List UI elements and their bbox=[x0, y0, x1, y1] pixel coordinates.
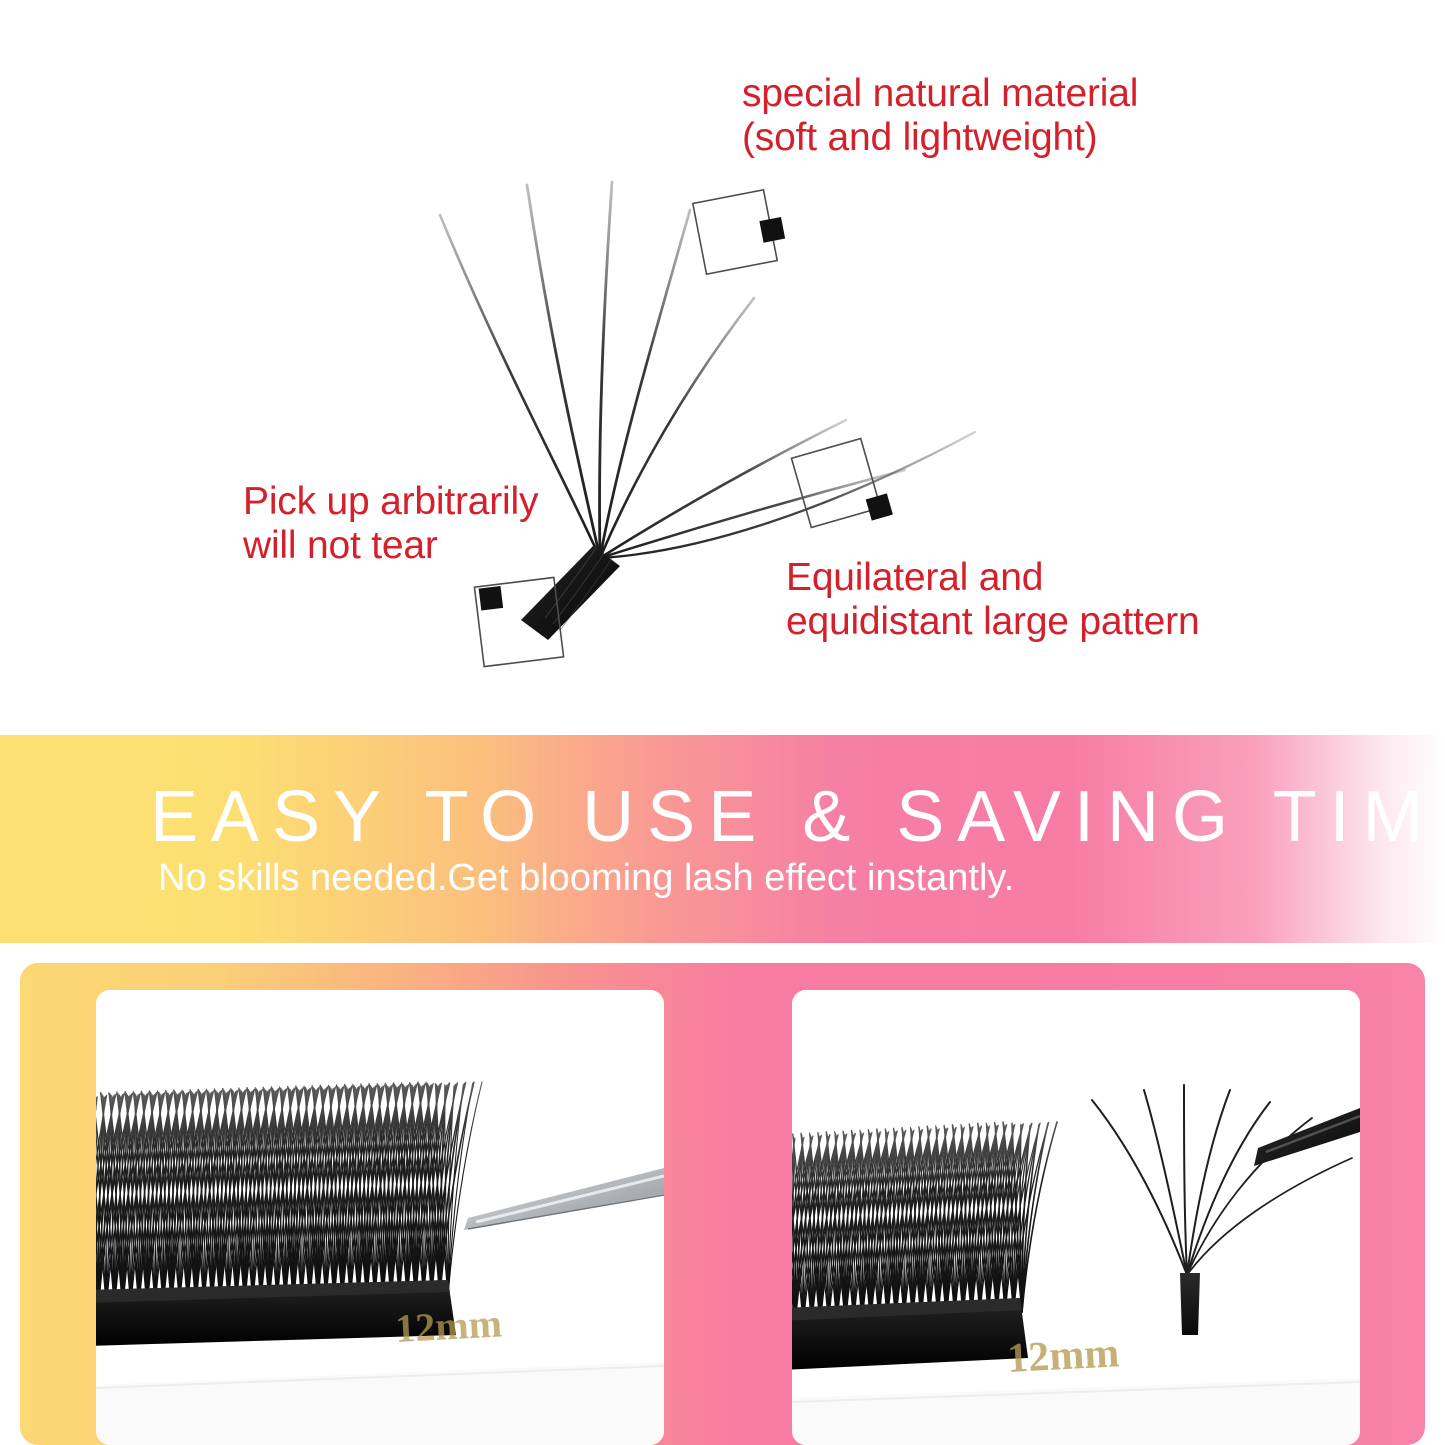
photo-card-lash-tray: 12mm bbox=[96, 990, 664, 1445]
top-feature-section: special natural material (soft and light… bbox=[0, 0, 1445, 735]
lash-tray-photo-right: 12mm bbox=[792, 990, 1360, 1445]
tray-size-label: 12mm bbox=[1006, 1330, 1120, 1382]
lash-fan-base bbox=[1180, 1273, 1200, 1335]
lash-fan-illustration bbox=[0, 0, 1445, 735]
photo-card-fan-pickup: 12mm bbox=[792, 990, 1360, 1445]
tray-size-label: 12mm bbox=[394, 1300, 503, 1351]
callout-pick-up-arbitrarily: Pick up arbitrarily will not tear bbox=[243, 480, 538, 567]
bottom-photo-panel: 12mm bbox=[20, 963, 1425, 1445]
lash-tray-photo-left: 12mm bbox=[96, 990, 664, 1445]
banner-headline: EASY TO USE & SAVING TIME bbox=[150, 781, 1445, 853]
gradient-banner: EASY TO USE & SAVING TIME No skills need… bbox=[0, 735, 1445, 943]
callout-marker-top bbox=[693, 188, 789, 275]
callout-equilateral-equidistant: Equilateral and equidistant large patter… bbox=[786, 556, 1199, 643]
banner-subheadline: No skills needed.Get blooming lash effec… bbox=[158, 859, 1014, 897]
lash-filaments-right bbox=[600, 420, 975, 558]
callout-special-natural-material: special natural material (soft and light… bbox=[742, 72, 1138, 159]
product-infographic: special natural material (soft and light… bbox=[0, 0, 1445, 1445]
